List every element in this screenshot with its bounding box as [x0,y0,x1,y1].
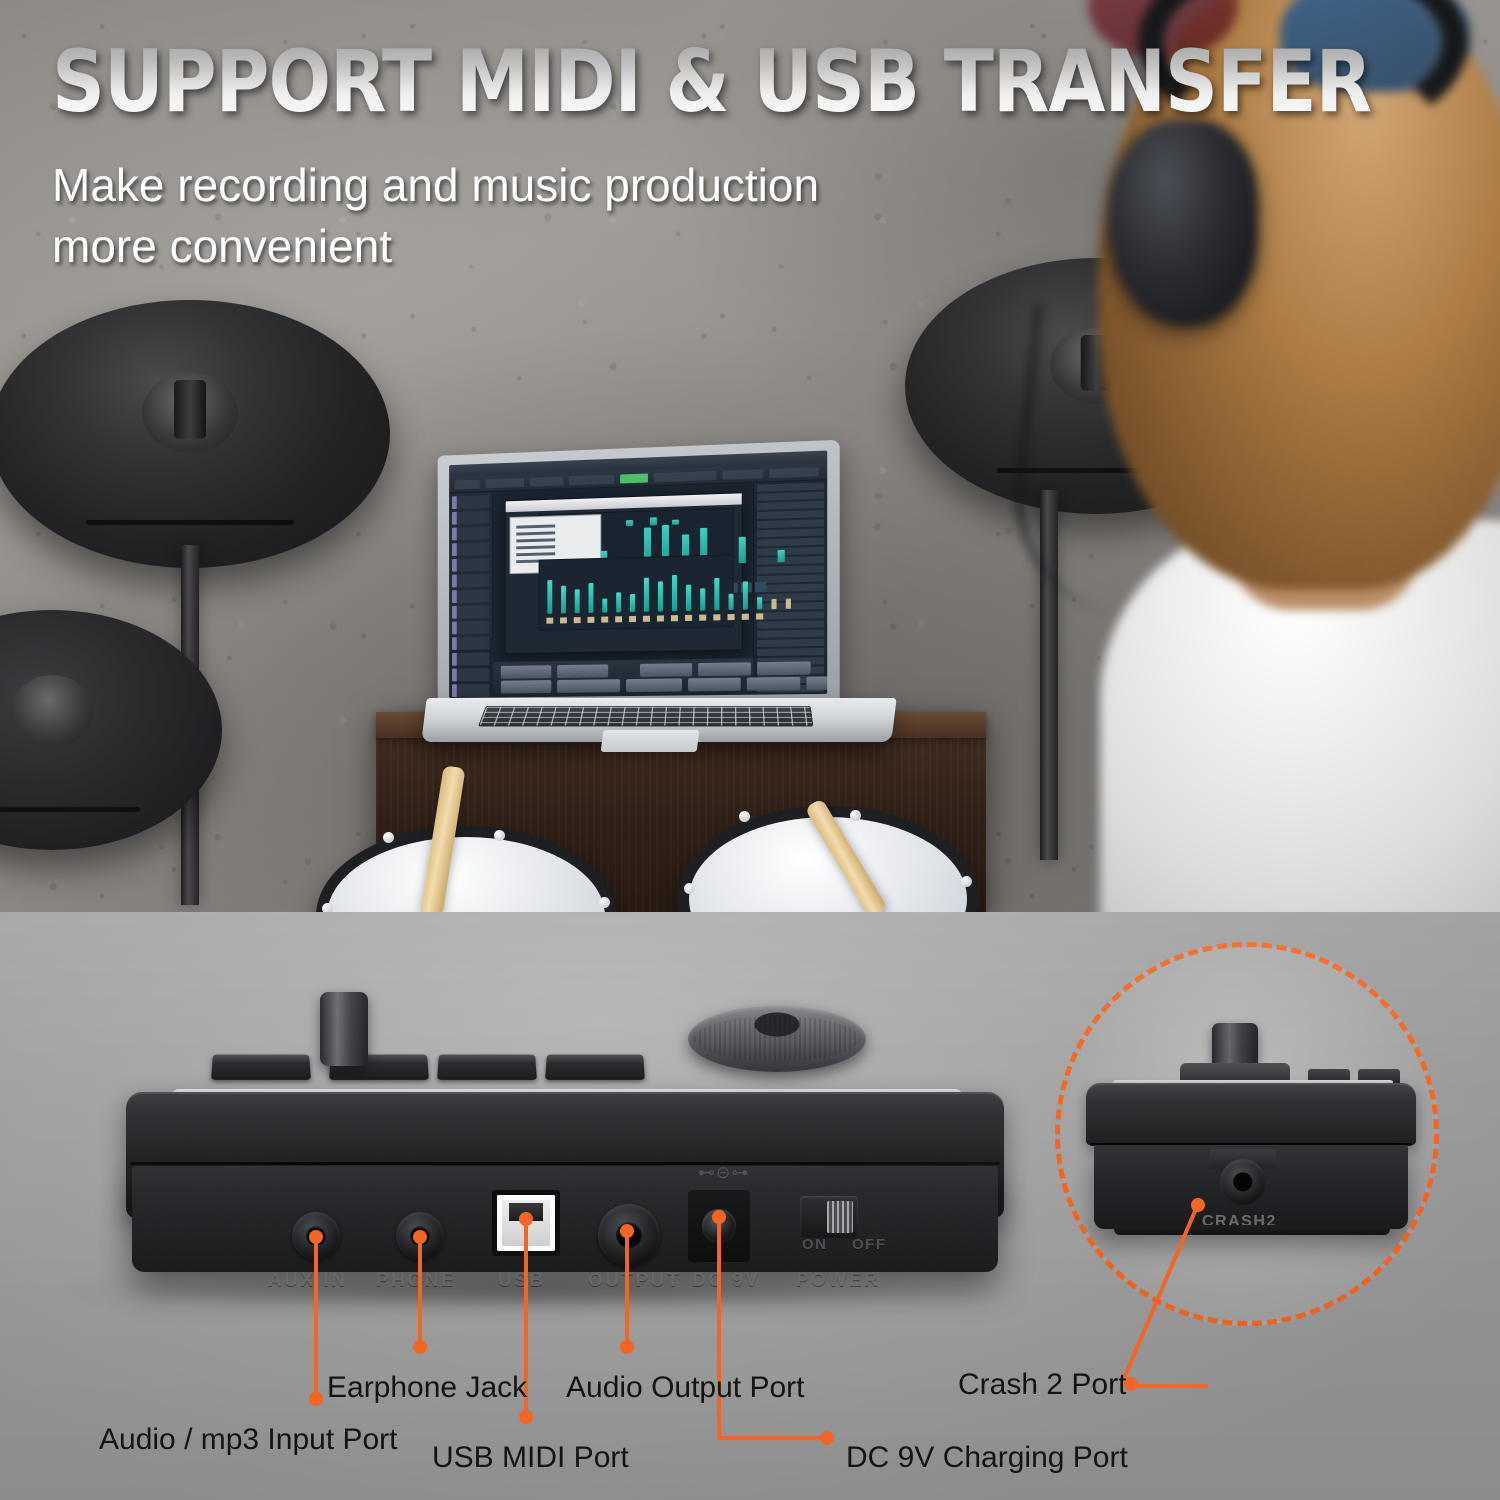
module-button-4[interactable] [545,1055,645,1080]
drum-module-rear-view [118,1044,1008,1292]
daw-mixer [539,554,734,630]
page-headline: SUPPORT MIDI & USB TRANSFER [52,32,1371,132]
daw-browser-panel [753,480,827,656]
laptop-trackpad [601,730,700,752]
crash2-jack[interactable] [1220,1159,1266,1205]
cymbal-post [174,380,206,439]
cymbal-slit [0,807,140,812]
cymbal-hub [11,675,93,747]
module-button-1[interactable] [211,1055,311,1080]
aux-in-jack[interactable] [292,1212,340,1260]
drummer-with-headphones [980,0,1500,912]
silkscreen-switch-off: OFF [852,1236,887,1253]
module-lower-housing [132,1166,998,1272]
crash2-detail-inset: CRASH2 [1055,942,1439,1326]
headphone-earcup [1108,120,1258,326]
laptop-lid [438,440,840,712]
audio-output-jack[interactable] [598,1204,660,1266]
cymbal-pad-left [0,300,390,568]
daw-transport-bar [493,658,753,697]
phone-jack[interactable] [396,1212,444,1260]
laptop-screen-daw [449,451,827,698]
module-volume-knob[interactable] [688,1006,866,1072]
subheadline-line-2: more convenient [52,216,819,277]
inset-module-foot [1114,1225,1390,1235]
silkscreen-phone: PHONE [376,1270,456,1292]
daw-playlist-track-list [449,492,493,639]
page-subheadline: Make recording and music production more… [52,155,819,276]
laptop-keyboard [478,706,813,726]
silkscreen-output: OUTPUT [588,1270,681,1292]
usb-midi-port[interactable] [492,1190,560,1256]
product-feature-image: SUPPORT MIDI & USB TRANSFER Make recordi… [0,0,1500,1500]
silkscreen-switch-on: ON [802,1236,828,1253]
module-seam-line [130,1162,1000,1165]
module-small-knob[interactable] [320,992,368,1066]
silkscreen-power: POWER [796,1270,880,1292]
power-switch[interactable] [800,1196,858,1238]
cymbal-slit [86,520,294,525]
lifestyle-photo-panel: SUPPORT MIDI & USB TRANSFER Make recordi… [0,0,1500,912]
silkscreen-aux-in: AUX IN [268,1270,347,1292]
dc-polarity-icon: ⊷⊝⊶ [698,1163,749,1183]
module-button-3[interactable] [437,1055,537,1080]
silkscreen-dc-9v: DC 9V [692,1270,760,1292]
silkscreen-usb: USB [498,1270,546,1292]
daw-floating-window [505,492,743,654]
laptop [424,448,894,788]
headphone-cable [1005,305,1156,616]
inset-upper-housing [1086,1083,1416,1145]
subheadline-line-1: Make recording and music production [52,155,819,216]
dc-9v-power-jack[interactable] [688,1190,750,1262]
